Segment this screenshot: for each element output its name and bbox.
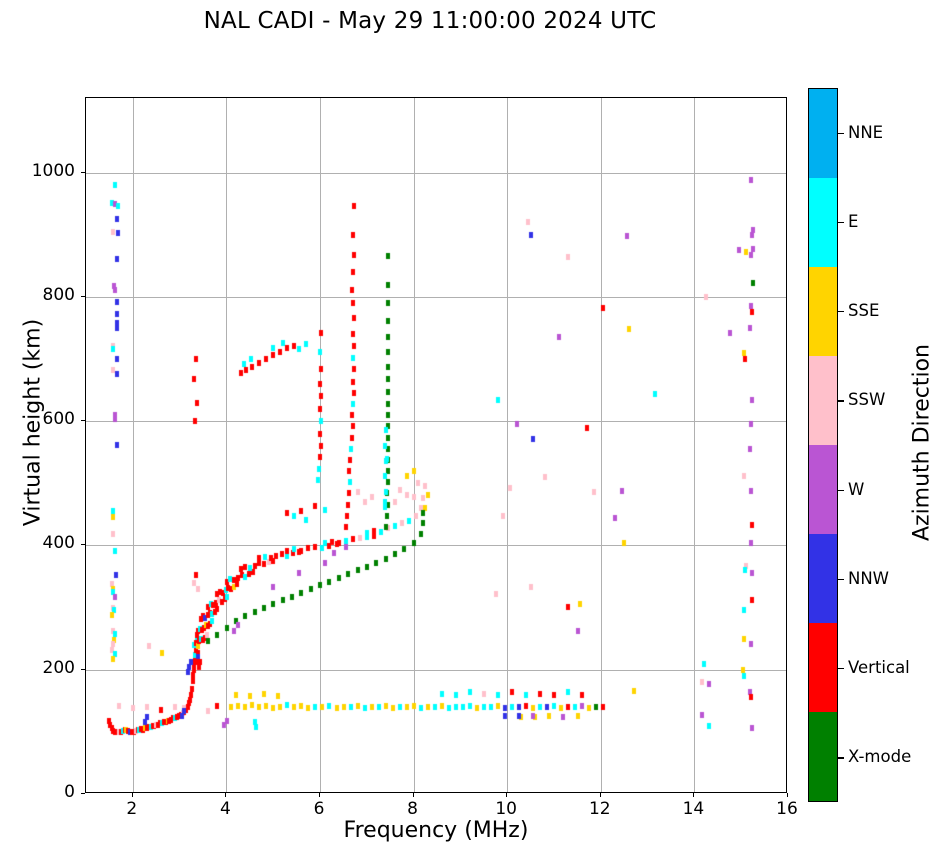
x-tick xyxy=(225,793,226,797)
x-tick-label: 8 xyxy=(383,799,443,819)
colorbar-label-nne: NNE xyxy=(848,123,883,142)
y-tick xyxy=(81,172,85,173)
plot-area xyxy=(85,97,787,793)
x-tick-label: 14 xyxy=(663,799,723,819)
y-tick-label: 200 xyxy=(5,658,75,678)
colorbar-label-nnw: NNW xyxy=(848,569,889,588)
figure-title: NAL CADI - May 29 11:00:00 2024 UTC xyxy=(0,8,860,34)
colorbar-segment-nne xyxy=(809,89,837,178)
colorbar-label-e: E xyxy=(848,212,858,231)
colorbar-segment-e xyxy=(809,178,837,267)
colorbar-tick xyxy=(838,222,844,223)
x-tick-label: 2 xyxy=(102,799,162,819)
y-axis-label: Virtual height (km) xyxy=(21,223,46,623)
x-tick xyxy=(132,793,133,797)
x-tick-label: 12 xyxy=(570,799,630,819)
colorbar-tick xyxy=(838,400,844,401)
colorbar-label-ssw: SSW xyxy=(848,390,885,409)
colorbar-tick xyxy=(838,311,844,312)
ionogram-figure: NAL CADI - May 29 11:00:00 2024 UTC 2468… xyxy=(0,0,951,856)
colorbar-label-w: W xyxy=(848,480,864,499)
x-axis-label: Frequency (MHz) xyxy=(85,818,787,843)
colorbar-tick xyxy=(838,490,844,491)
colorbar xyxy=(808,88,838,802)
colorbar-tick xyxy=(838,133,844,134)
y-tick xyxy=(81,669,85,670)
y-tick xyxy=(81,544,85,545)
x-tick-label: 10 xyxy=(476,799,536,819)
y-tick-label: 1000 xyxy=(5,161,75,181)
x-tick xyxy=(413,793,414,797)
colorbar-tick xyxy=(838,668,844,669)
colorbar-segment-ssw xyxy=(809,356,837,445)
x-tick xyxy=(319,793,320,797)
scatter-canvas xyxy=(86,98,788,794)
x-tick xyxy=(693,793,694,797)
colorbar-segment-sse xyxy=(809,267,837,356)
x-tick-label: 6 xyxy=(289,799,349,819)
colorbar-segment-w xyxy=(809,445,837,534)
x-tick-label: 4 xyxy=(195,799,255,819)
colorbar-label-x-mode: X-mode xyxy=(848,747,911,766)
x-tick xyxy=(600,793,601,797)
x-tick xyxy=(506,793,507,797)
colorbar-tick xyxy=(838,757,844,758)
colorbar-label: Azimuth Direction xyxy=(910,233,935,653)
colorbar-segment-nnw xyxy=(809,534,837,623)
x-tick xyxy=(787,793,788,797)
y-tick xyxy=(81,296,85,297)
colorbar-tick xyxy=(838,579,844,580)
colorbar-segment-vertical xyxy=(809,623,837,712)
colorbar-segment-x-mode xyxy=(809,712,837,801)
y-tick xyxy=(81,420,85,421)
x-tick-label: 16 xyxy=(757,799,817,819)
colorbar-label-sse: SSE xyxy=(848,301,879,320)
colorbar-label-vertical: Vertical xyxy=(848,658,910,677)
y-tick xyxy=(81,793,85,794)
y-tick-label: 0 xyxy=(5,782,75,802)
